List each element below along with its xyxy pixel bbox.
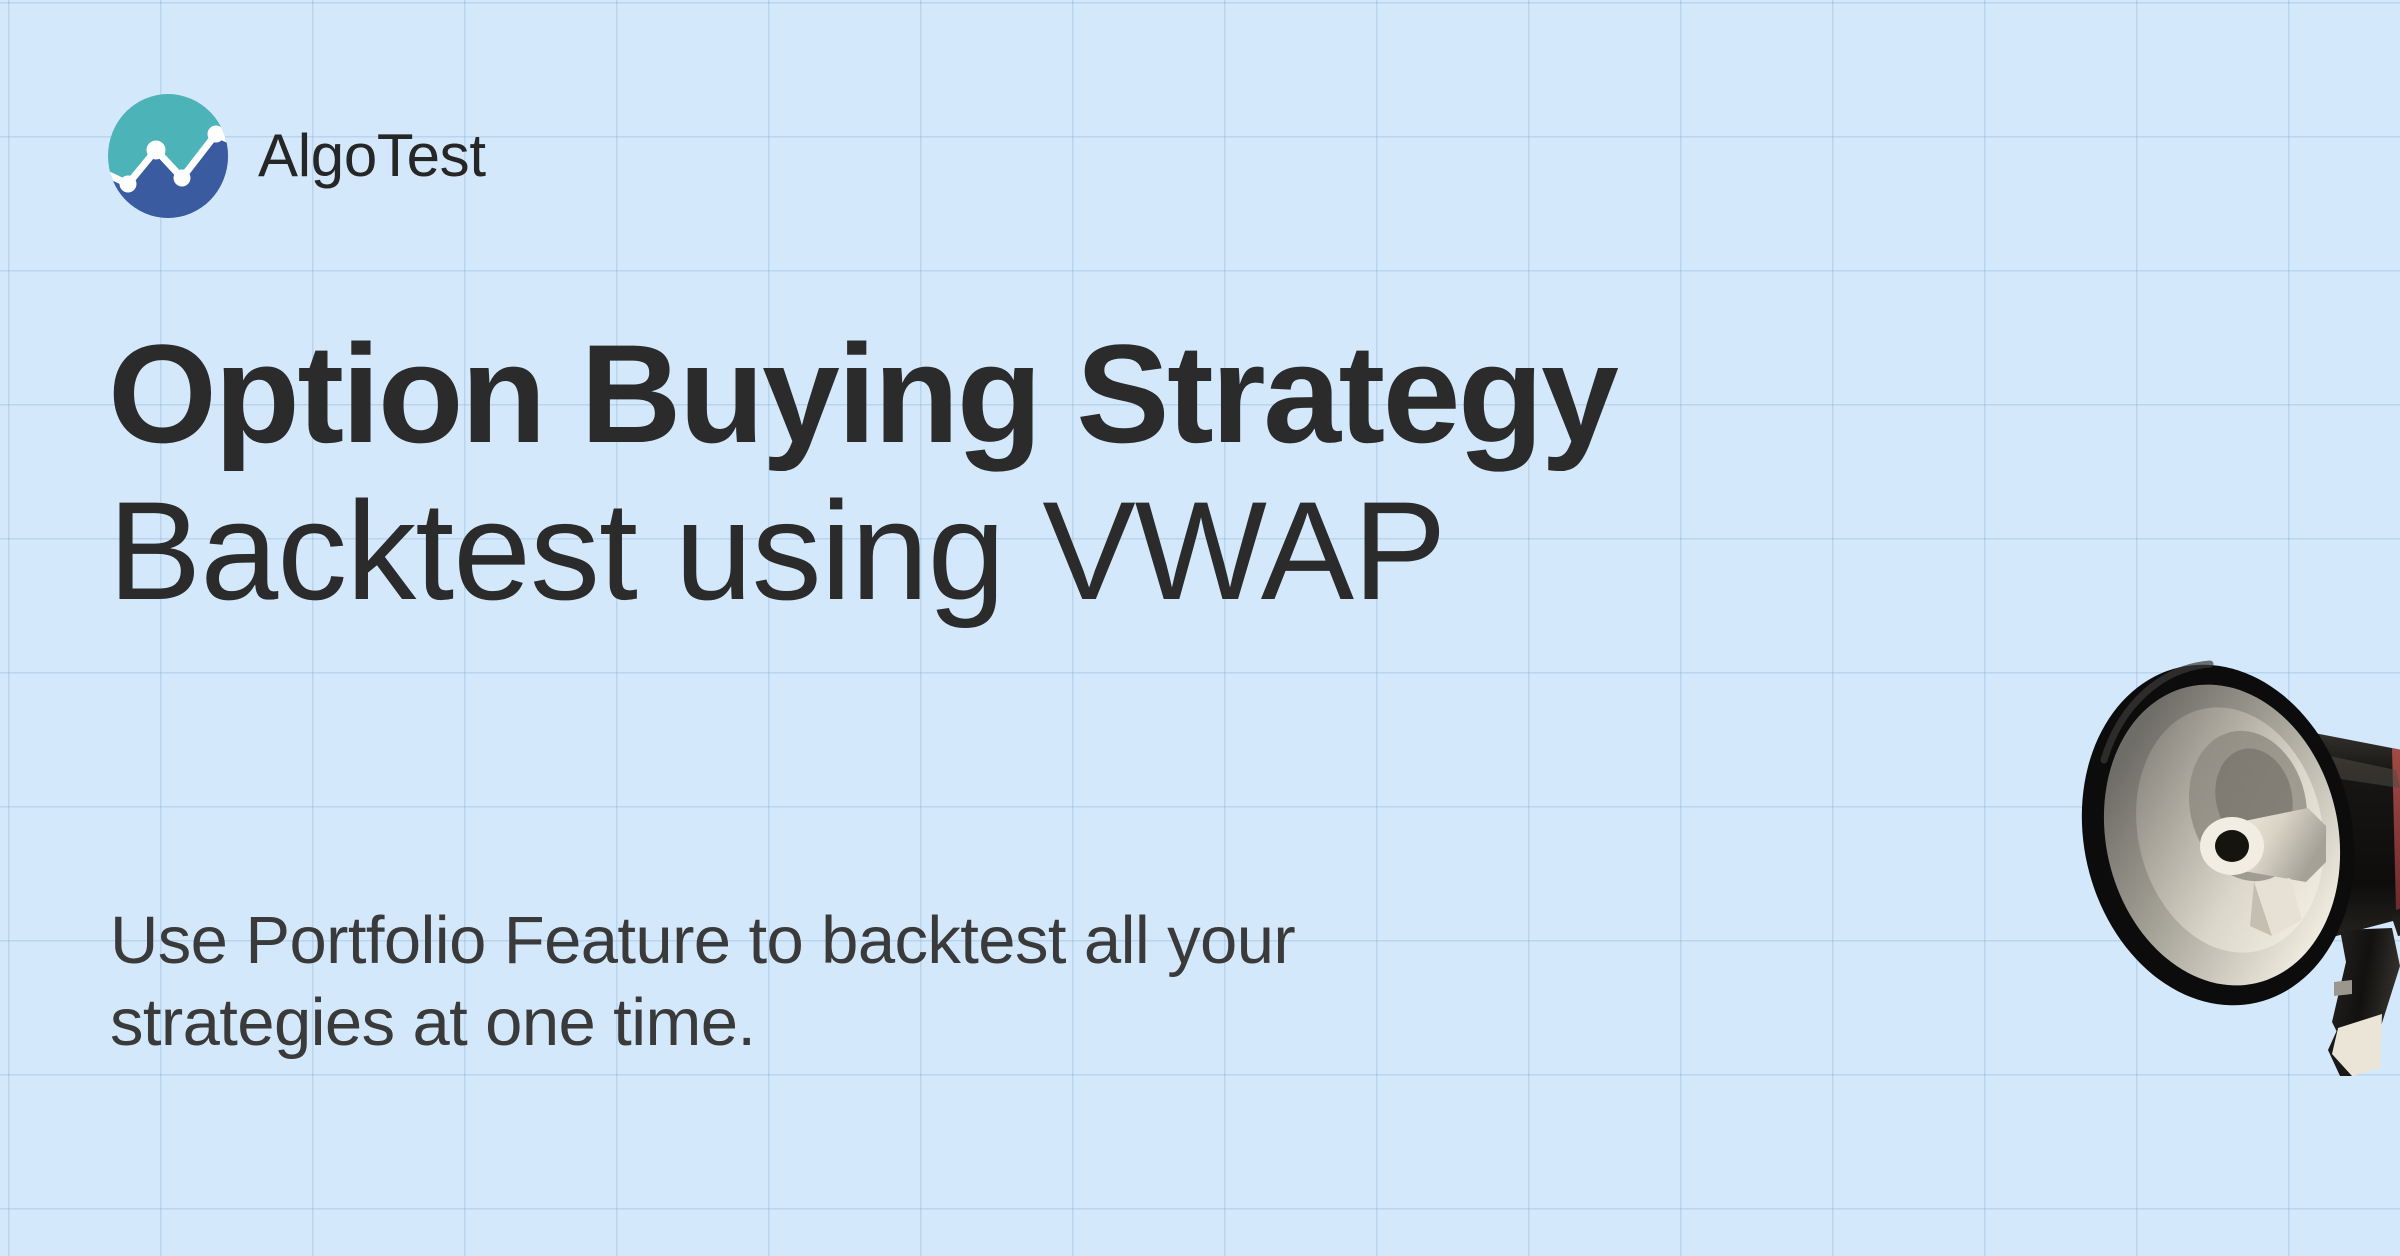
headline-line-2: Backtest using VWAP	[108, 473, 2188, 630]
page-title: Option Buying Strategy Backtest using VW…	[108, 316, 2188, 630]
brand-name: AlgoTest	[258, 126, 486, 186]
algotest-chart-circle-logo-icon	[104, 92, 232, 220]
brand-logo[interactable]: AlgoTest	[104, 92, 486, 220]
subtitle-line-2: strategies at one time.	[110, 982, 1870, 1064]
subtitle-line-1: Use Portfolio Feature to backtest all yo…	[110, 900, 1870, 982]
promo-banner: AlgoTest Option Buying Strategy Backtest…	[0, 0, 2400, 1256]
page-subtitle: Use Portfolio Feature to backtest all yo…	[110, 900, 1870, 1063]
headline-line-1: Option Buying Strategy	[108, 316, 2188, 473]
